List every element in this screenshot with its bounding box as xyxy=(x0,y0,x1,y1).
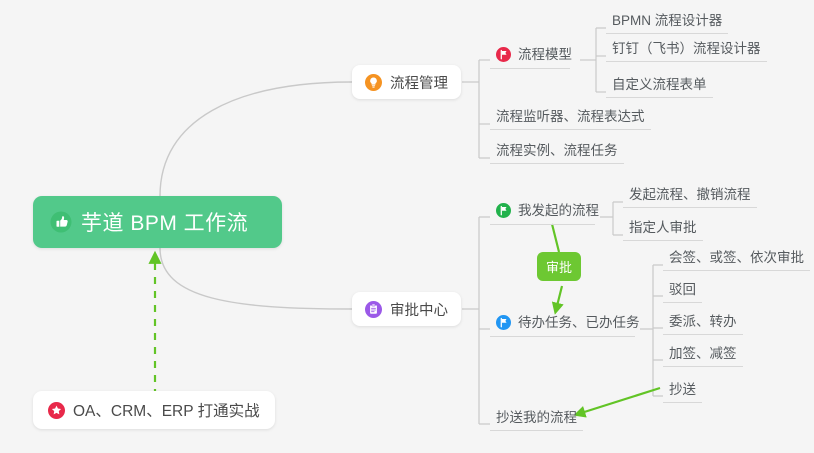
leaf-listener-expression[interactable]: 流程监听器、流程表达式 xyxy=(490,108,651,130)
node-todo-done-tasks-rule xyxy=(490,336,635,337)
leaf-add-remove-sign[interactable]: 加签、减签 xyxy=(663,345,743,367)
root-node[interactable]: 芋道 BPM 工作流 xyxy=(33,196,282,248)
leaf-label: 流程实例、流程任务 xyxy=(496,142,618,159)
node-label: 待办任务、已办任务 xyxy=(518,314,640,331)
branch-label: 审批中心 xyxy=(390,299,448,320)
leaf-start-cancel-process[interactable]: 发起流程、撤销流程 xyxy=(623,186,757,208)
leaf-label: 会签、或签、依次审批 xyxy=(669,249,804,266)
branch-approval-center[interactable]: 审批中心 xyxy=(352,292,461,326)
thumbs-up-icon xyxy=(50,211,72,233)
bottom-note-node[interactable]: OA、CRM、ERP 打通实战 xyxy=(33,391,275,429)
lightbulb-icon xyxy=(365,74,382,91)
leaf-label: 加签、减签 xyxy=(669,345,737,362)
leaf-custom-form[interactable]: 自定义流程表单 xyxy=(606,76,713,98)
leaf-label: 指定人审批 xyxy=(629,219,697,236)
node-label: 流程模型 xyxy=(518,46,572,63)
root-label: 芋道 BPM 工作流 xyxy=(81,207,248,237)
leaf-label: BPMN 流程设计器 xyxy=(612,12,722,29)
branch-process-management[interactable]: 流程管理 xyxy=(352,65,461,99)
leaf-label: 钉钉（飞书）流程设计器 xyxy=(612,40,761,57)
approval-badge-label: 审批 xyxy=(546,257,572,276)
node-todo-done-tasks[interactable]: 待办任务、已办任务 xyxy=(490,314,646,335)
node-process-model[interactable]: 流程模型 xyxy=(490,46,578,67)
leaf-label: 抄送我的流程 xyxy=(496,409,577,426)
branch-label: 流程管理 xyxy=(390,72,448,93)
leaf-cc[interactable]: 抄送 xyxy=(663,381,702,403)
node-my-initiated-rule xyxy=(490,224,595,225)
leaf-cc-to-me[interactable]: 抄送我的流程 xyxy=(490,409,583,431)
leaf-label: 发起流程、撤销流程 xyxy=(629,186,751,203)
leaf-label: 委派、转办 xyxy=(669,313,737,330)
leaf-assignee-approval[interactable]: 指定人审批 xyxy=(623,219,703,241)
approval-badge: 审批 xyxy=(537,252,581,281)
leaf-bpmn-designer[interactable]: BPMN 流程设计器 xyxy=(606,12,728,34)
node-my-initiated[interactable]: 我发起的流程 xyxy=(490,202,605,223)
leaf-dingtalk-designer[interactable]: 钉钉（飞书）流程设计器 xyxy=(606,40,767,62)
leaf-reject[interactable]: 驳回 xyxy=(663,281,702,303)
flag-icon xyxy=(496,203,511,218)
leaf-label: 抄送 xyxy=(669,381,696,398)
leaf-label: 流程监听器、流程表达式 xyxy=(496,108,645,125)
node-label: 我发起的流程 xyxy=(518,202,599,219)
star-icon xyxy=(48,402,65,419)
node-process-model-rule xyxy=(490,68,570,69)
clipboard-icon xyxy=(365,301,382,318)
leaf-label: 驳回 xyxy=(669,281,696,298)
flag-icon xyxy=(496,47,511,62)
leaf-countersign[interactable]: 会签、或签、依次审批 xyxy=(663,249,810,271)
mindmap-canvas: 芋道 BPM 工作流 OA、CRM、ERP 打通实战 流程管理 xyxy=(0,0,814,453)
leaf-delegate-transfer[interactable]: 委派、转办 xyxy=(663,313,743,335)
leaf-label: 自定义流程表单 xyxy=(612,76,707,93)
bottom-note-label: OA、CRM、ERP 打通实战 xyxy=(73,399,260,421)
flag-icon xyxy=(496,315,511,330)
leaf-instance-task[interactable]: 流程实例、流程任务 xyxy=(490,142,624,164)
